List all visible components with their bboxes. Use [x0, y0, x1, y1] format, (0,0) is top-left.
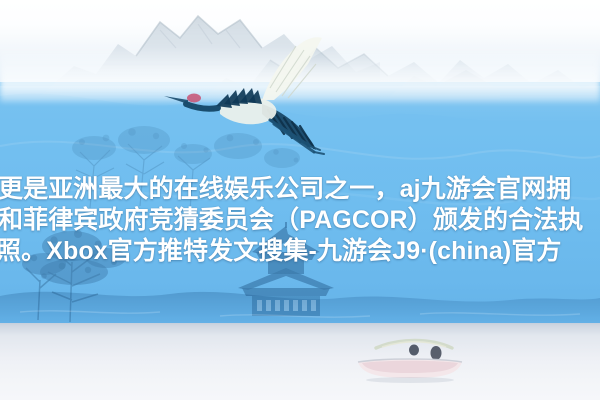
overlay-text-block: 更是亚洲最大的在线娱乐公司之一，aj九游会官网拥 和菲律宾政府竞猜委员会（PAG… — [0, 160, 600, 276]
overlay-text-line-3: 照。Xbox官方推特发文搜集-九游会J9·(china)官方 — [0, 236, 600, 267]
water-band — [0, 323, 600, 400]
banner-image: 更是亚洲最大的在线娱乐公司之一，aj九游会官网拥 和菲律宾政府竞猜委员会（PAG… — [0, 0, 600, 400]
overlay-text-line-1: 更是亚洲最大的在线娱乐公司之一，aj九游会官网拥 — [0, 174, 600, 205]
mist-haze — [0, 46, 600, 102]
overlay-text-line-2: 和菲律宾政府竞猜委员会（PAGCOR）颁发的合法执 — [0, 205, 600, 236]
